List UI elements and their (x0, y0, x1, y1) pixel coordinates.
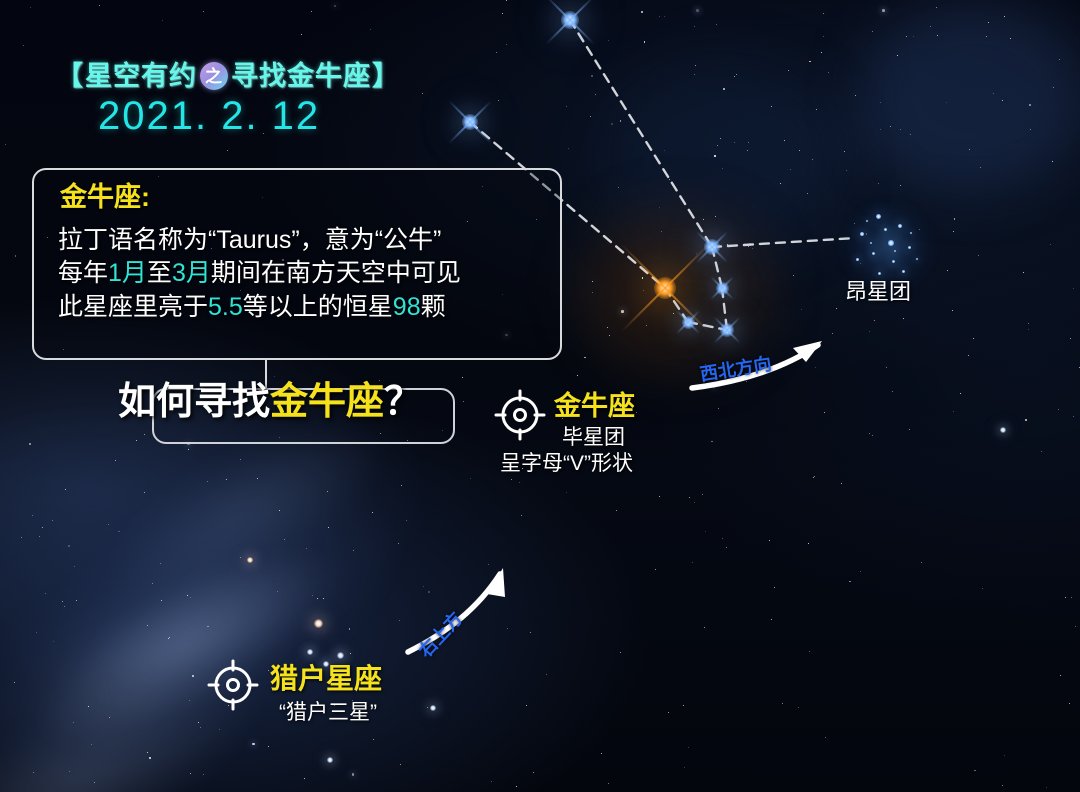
info-text: 拉丁语名称为“Taurus”，意为“公牛” (58, 226, 441, 254)
taurus-marker[interactable] (492, 387, 548, 448)
night-sky-infographic: 昂星团 【 星空有约 之 寻找金牛座 】 2021. 2. 12 金牛座: 拉丁… (0, 0, 1080, 792)
title-bracket-open: 【 (56, 63, 84, 90)
star-epsilon-tauri (704, 239, 720, 255)
info-card-line: 每年1月至3月期间在南方天空中可见 (58, 257, 548, 290)
title-block: 【 星空有约 之 寻找金牛座 】 2021. 2. 12 (56, 62, 400, 136)
info-text: 等以上的恒星 (243, 293, 393, 321)
title-zhi-badge: 之 (200, 62, 228, 90)
howto-question: 如何寻找金牛座？ (118, 383, 498, 421)
howto-suffix: ？ (384, 381, 422, 423)
pleiades-star (860, 232, 864, 236)
pleiades-star (898, 224, 902, 228)
howto-prefix: 如何寻找 (118, 381, 270, 423)
info-text: 至 (147, 259, 172, 287)
pleiades-label: 昂星团 (845, 274, 911, 306)
taurus-marker-title: 金牛座 (554, 391, 635, 422)
title-part-1: 星空有约 (85, 63, 197, 90)
star-field-bright-2 (1000, 427, 1006, 433)
title-bracket-close: 】 (372, 63, 400, 90)
star-betelgeuse (314, 619, 323, 628)
info-highlight: 5.5 (208, 293, 243, 321)
taurus-marker-sub1: 毕星团 (562, 425, 625, 450)
taurus-marker-sub2: 呈字母“V”形状 (500, 451, 633, 476)
taurus-info-card: 金牛座: 拉丁语名称为“Taurus”，意为“公牛”每年1月至3月期间在南方天空… (32, 168, 562, 360)
star-core (314, 619, 323, 628)
info-card-line: 拉丁语名称为“Taurus”，意为“公牛” (58, 224, 548, 257)
info-text: 颗 (421, 293, 446, 321)
info-text: 此星座里亮于 (58, 293, 208, 321)
star-core (327, 757, 333, 763)
star-core (337, 652, 344, 659)
star-delta-tauri (716, 282, 729, 295)
info-card-line: 此星座里亮于5.5等以上的恒星98颗 (58, 291, 548, 324)
pleiades-star (902, 270, 905, 273)
crosshair-icon (205, 657, 261, 713)
title-part-2: 寻找金牛座 (231, 63, 371, 90)
orion-marker[interactable] (205, 657, 261, 718)
pleiades-star (884, 228, 887, 231)
star-saiph (327, 757, 333, 763)
info-highlight: 1月 (108, 259, 147, 287)
pleiades-star (876, 214, 881, 219)
howto-highlight: 金牛座 (270, 381, 384, 423)
info-card-heading: 金牛座: (60, 184, 150, 211)
pleiades-star (856, 258, 859, 261)
star-beta-tauri (561, 11, 579, 29)
star-zeta-tauri (462, 114, 478, 130)
star-bellatrix (337, 652, 344, 659)
info-text: 每年 (58, 259, 108, 287)
crosshair-icon (492, 387, 548, 443)
page-title: 【 星空有约 之 寻找金牛座 】 (56, 62, 400, 90)
orion-marker-sub1: “猎户三星” (279, 700, 377, 725)
star-gamma-tauri (720, 323, 734, 337)
info-highlight: 3月 (172, 259, 211, 287)
star-core (1000, 427, 1006, 433)
info-text: 期间在南方天空中可见 (211, 259, 461, 287)
info-highlight: 98 (393, 293, 421, 321)
star-aldebaran (654, 277, 676, 299)
info-card-body: 拉丁语名称为“Taurus”，意为“公牛”每年1月至3月期间在南方天空中可见此星… (58, 224, 548, 324)
date-label: 2021. 2. 12 (98, 96, 400, 136)
orion-marker-title: 猎户星座 (270, 663, 382, 695)
star-theta-tauri (682, 316, 695, 329)
pleiades-star (888, 240, 894, 246)
